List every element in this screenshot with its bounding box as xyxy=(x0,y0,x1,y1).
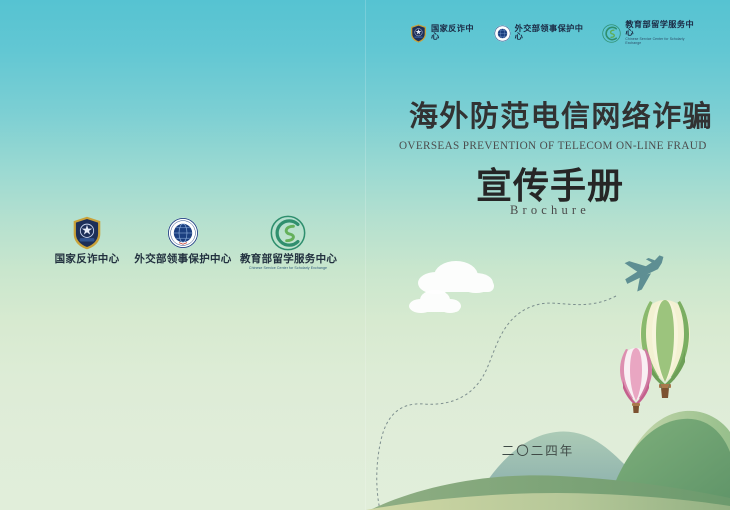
top-logo-label-1: 外交部领事保护中心 xyxy=(515,25,590,41)
cover-subtitle-cn: 宣传手册 xyxy=(455,160,645,208)
small-balloon xyxy=(620,348,652,413)
brush-calligraphy-xuanchuanshouce: 宣传手册 xyxy=(455,160,645,208)
top-logo-item-0: 国家反诈中心 xyxy=(410,24,481,43)
back-logo-sublabel-2: Chinese Service Center for Scholarly Exc… xyxy=(240,267,336,271)
cover-fold-line xyxy=(365,0,366,510)
brochure-cover-page: 国家反诈中心 外交部领事保护中心 xyxy=(0,0,730,510)
back-logo-item-2: 教育部留学服务中心 Chinese Service Center for Sch… xyxy=(240,212,336,271)
top-logo-item-1: 外交部领事保护中心 xyxy=(494,25,590,42)
back-cover-logo-row: 国家反诈中心 外交部领事保护中心 xyxy=(48,212,333,274)
back-logo-label-2: 教育部留学服务中心 Chinese Service Center for Sch… xyxy=(240,254,336,271)
top-logo-sublabel-2: Chinese Service Center for Scholarly Exc… xyxy=(625,38,700,45)
cloud-icon xyxy=(418,261,494,294)
cover-title-cn: 海外防范电信网络诈骗 xyxy=(409,103,694,132)
top-logo-item-2: 教育部留学服务中心 Chinese Service Center for Sch… xyxy=(602,21,700,45)
top-logo-label-0: 国家反诈中心 xyxy=(431,25,481,41)
cs-monogram-icon xyxy=(270,215,306,251)
back-logo-label-0: 国家反诈中心 xyxy=(48,254,126,266)
cover-title-en: OVERSEAS PREVENTION OF TELECOM ON-LINE F… xyxy=(399,140,704,152)
cover-subtitle-en: Brochure xyxy=(455,203,645,218)
cloud-icon-small xyxy=(409,290,461,313)
shield-badge-icon xyxy=(410,24,427,43)
airplane-icon xyxy=(619,248,672,294)
top-logo-label-2: 教育部留学服务中心 Chinese Service Center for Sch… xyxy=(625,21,700,45)
back-logo-label-1: 外交部领事保护中心 xyxy=(126,254,240,266)
svg-text:宣传手册: 宣传手册 xyxy=(476,166,624,207)
shield-badge-icon xyxy=(72,216,102,250)
globe-seal-icon xyxy=(494,25,511,42)
globe-seal-icon xyxy=(167,217,199,249)
top-logo-strip: 国家反诈中心 外交部领事保护中心 xyxy=(410,20,700,46)
cs-monogram-icon xyxy=(602,24,621,43)
cover-year: 二〇二四年 xyxy=(478,440,598,459)
back-logo-item-1: 外交部领事保护中心 xyxy=(126,212,240,266)
back-logo-item-0: 国家反诈中心 xyxy=(48,212,126,266)
